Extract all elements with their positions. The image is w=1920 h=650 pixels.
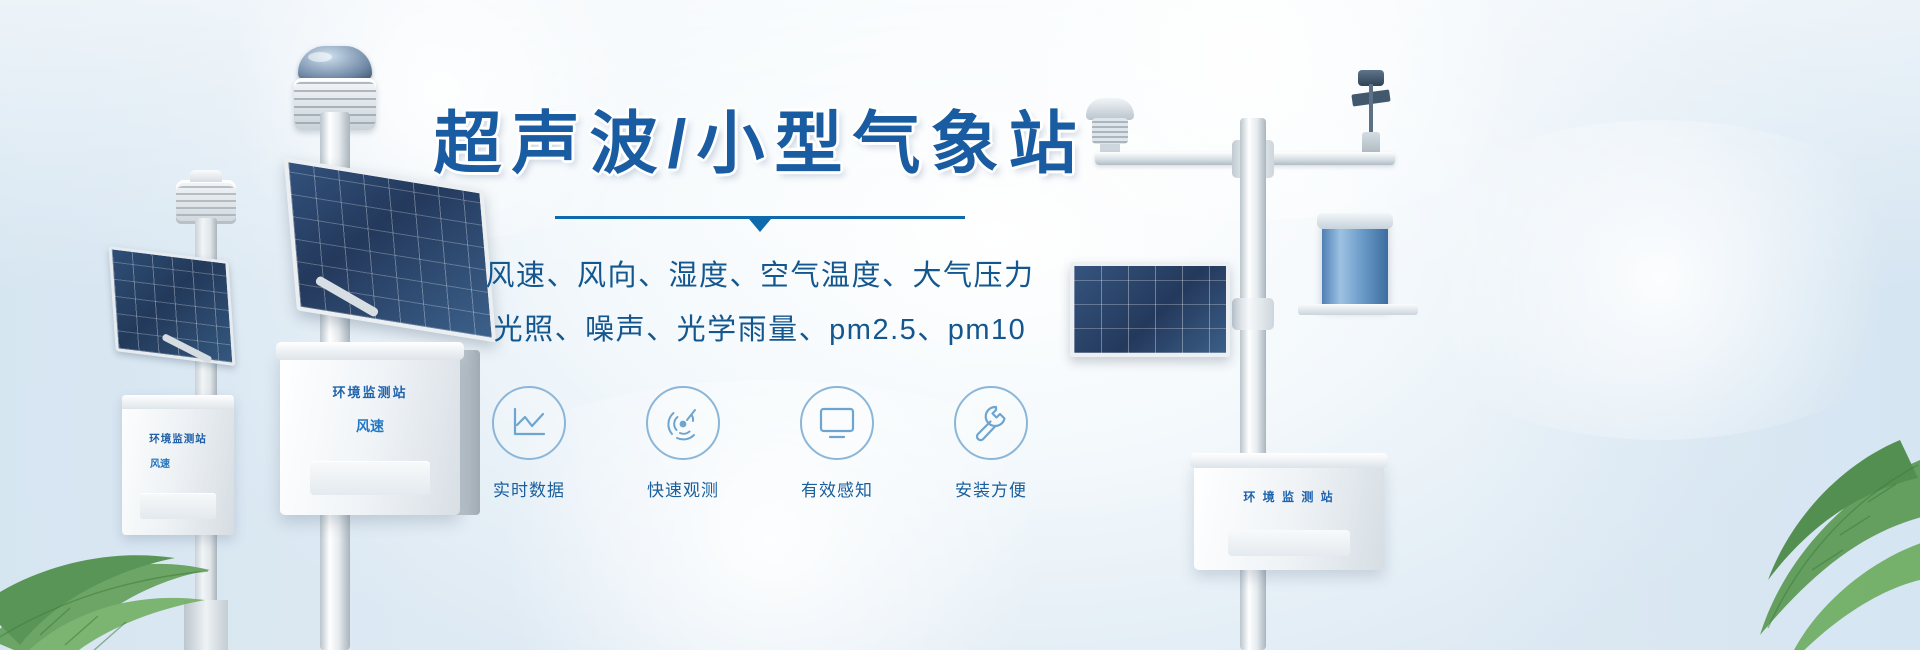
page-title: 超声波/小型气象站 <box>430 110 1090 178</box>
feature-item-easy-installation[interactable]: 安装方便 <box>932 386 1050 501</box>
left-cabinet-brand: 风速 <box>150 455 170 470</box>
ultrasonic-sensor-body <box>1092 118 1128 144</box>
left-solar-panel <box>109 246 236 366</box>
right-control-cabinet: 环 境 监 测 站 <box>1194 460 1384 570</box>
wind-vane-rod <box>1369 84 1373 134</box>
feature-icon-circle <box>492 386 566 460</box>
cloud-decoration <box>1380 120 1920 440</box>
subtitle-line-1: 风速、风向、湿度、空气温度、大气压力 <box>430 252 1090 302</box>
product-banner: 环境监测站 风速 环境监测站 风速 <box>0 0 1920 650</box>
center-cabinet-vent <box>310 461 430 495</box>
right-cabinet-top <box>1190 453 1388 468</box>
feature-label: 快速观测 <box>624 476 742 501</box>
right-solar-panel <box>1070 262 1230 357</box>
subtitle-line-2: 光照、噪声、光学雨量、pm2.5、pm10 <box>430 306 1090 356</box>
title-divider <box>555 212 965 226</box>
feature-icon-circle <box>646 386 720 460</box>
divider-triangle-icon <box>749 219 771 232</box>
wrench-icon <box>970 402 1012 444</box>
monitor-icon <box>816 404 858 442</box>
left-mast-base <box>184 600 228 650</box>
left-sensor-radiation-shield <box>176 186 236 220</box>
feature-item-realtime-data[interactable]: 实时数据 <box>470 386 588 501</box>
left-cabinet-top <box>122 395 234 409</box>
right-weather-station-image: 环 境 监 测 站 <box>1060 40 1460 650</box>
right-cabinet-vent <box>1228 530 1350 556</box>
feature-icon-circle <box>800 386 874 460</box>
sensor-shelf <box>1298 304 1418 315</box>
rain-gauge-sensor <box>1322 220 1388 308</box>
lower-collar <box>1232 298 1274 330</box>
ultrasonic-sensor-head <box>1086 98 1134 120</box>
right-cabinet-label: 环 境 监 测 站 <box>1194 488 1384 505</box>
feature-item-fast-observation[interactable]: 快速观测 <box>624 386 742 501</box>
feature-label: 安装方便 <box>932 476 1050 501</box>
banner-content: 超声波/小型气象站 风速、风向、湿度、空气温度、大气压力 光照、噪声、光学雨量、… <box>430 110 1090 501</box>
radar-signal-icon <box>662 402 704 444</box>
left-cabinet-vent <box>140 493 216 519</box>
line-chart-icon <box>509 404 549 442</box>
feature-label: 实时数据 <box>470 476 588 501</box>
wind-vane-sensor <box>1348 70 1394 156</box>
left-control-cabinet: 环境监测站 风速 <box>122 395 234 535</box>
center-dome-sensor <box>298 46 372 80</box>
right-mast-pole <box>1240 118 1266 650</box>
feature-item-effective-sensing[interactable]: 有效感知 <box>778 386 896 501</box>
feature-label: 有效感知 <box>778 476 896 501</box>
feature-list: 实时数据 快速观测 <box>430 386 1090 501</box>
feature-icon-circle <box>954 386 1028 460</box>
left-cabinet-label: 环境监测站 <box>132 431 224 446</box>
right-leaf-decoration <box>1600 420 1920 650</box>
ultrasonic-wind-sensor <box>1082 98 1138 156</box>
